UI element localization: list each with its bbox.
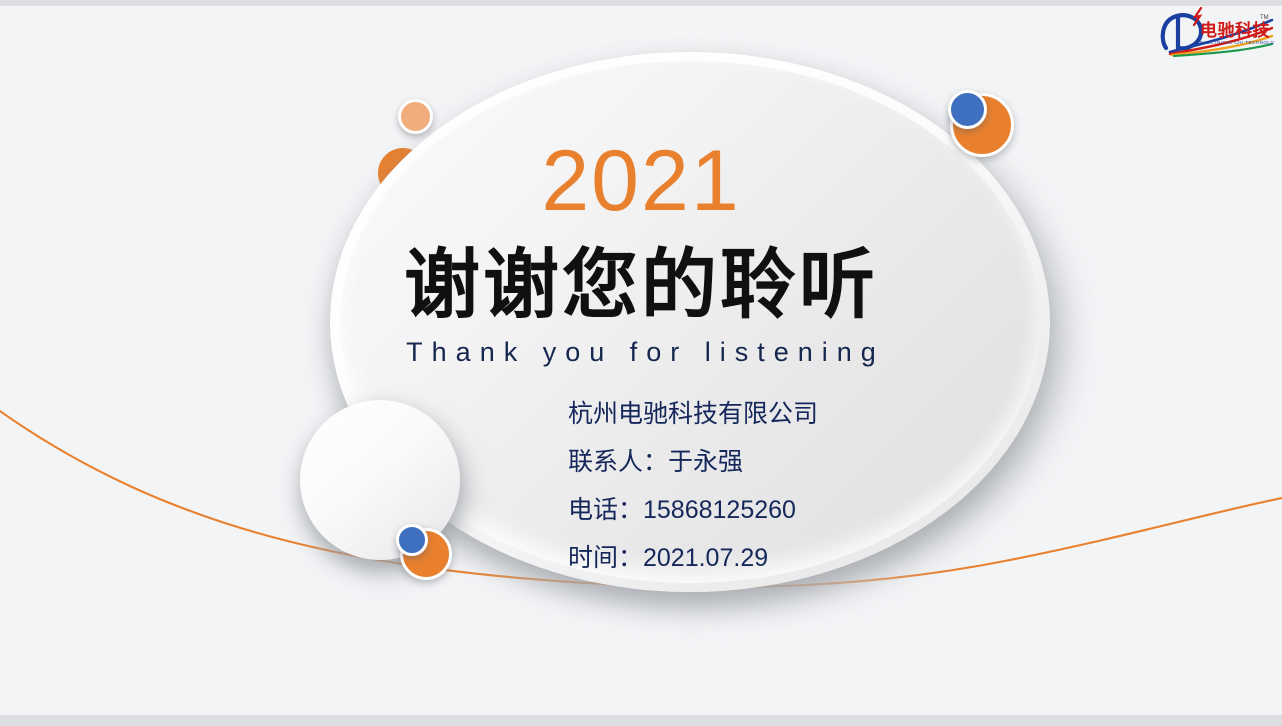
company-logo: 电驰科技 TM ELECTRICAL CHI TECHNOLOGY bbox=[1156, 5, 1274, 57]
presentation-slide: 2021 谢谢您的聆听 Thank you for listening 杭州电驰… bbox=[0, 0, 1282, 726]
slide-frame-bottom-edge bbox=[0, 715, 1282, 726]
dot-peach bbox=[398, 99, 433, 134]
slide-frame-top-edge bbox=[0, 0, 1282, 6]
logo-trademark: TM bbox=[1260, 15, 1269, 21]
dot-blue-bottom-left bbox=[396, 524, 428, 556]
logo-company-en: ELECTRICAL CHI TECHNOLOGY bbox=[1200, 40, 1274, 45]
logo-company-cn: 电驰科技 bbox=[1200, 20, 1270, 41]
dot-blue-top-right bbox=[948, 90, 987, 129]
logo-monogram-icon bbox=[1163, 15, 1201, 48]
